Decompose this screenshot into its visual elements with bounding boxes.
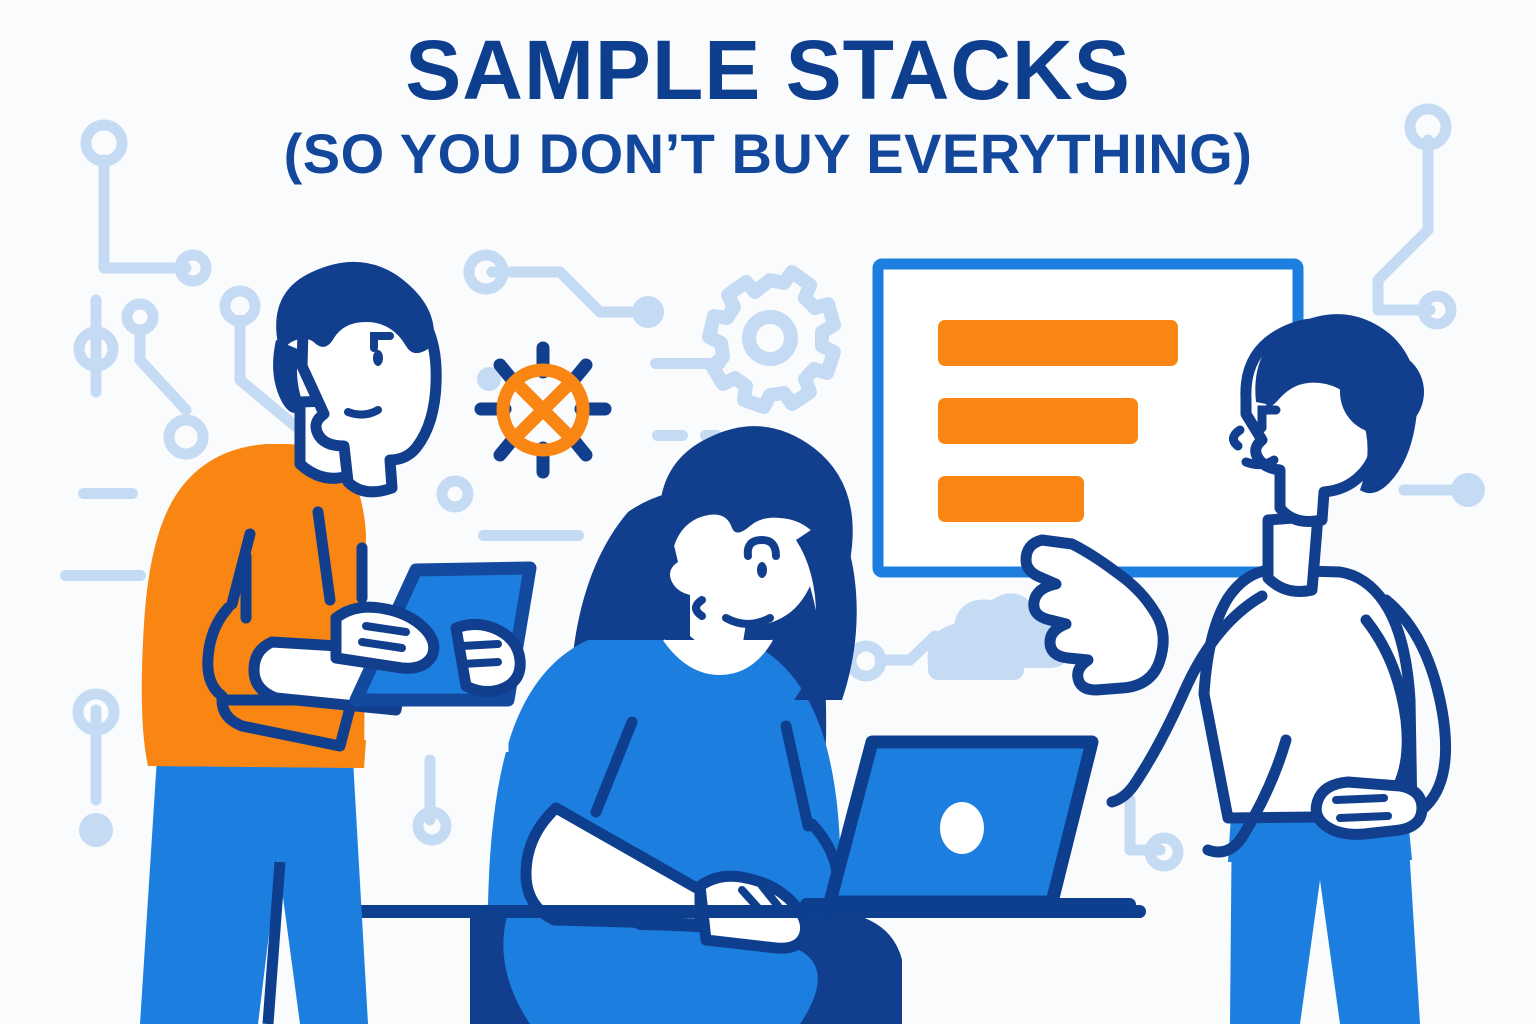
laptop (800, 742, 1136, 911)
board-bar-2 (938, 398, 1138, 444)
illustration-canvas: SAMPLE STACKS (SO YOU DON’T BUY EVERYTHI… (0, 0, 1536, 1024)
board-bar-1 (938, 320, 1178, 366)
hair-bun (1340, 350, 1424, 434)
desk-line (340, 905, 1146, 918)
no-entry-burst-icon (481, 348, 605, 472)
seated-woman-with-laptop (470, 426, 902, 1024)
whiteboard-panel (878, 264, 1298, 572)
illustration-layer (0, 0, 1536, 1024)
board-bar-3 (938, 476, 1084, 522)
